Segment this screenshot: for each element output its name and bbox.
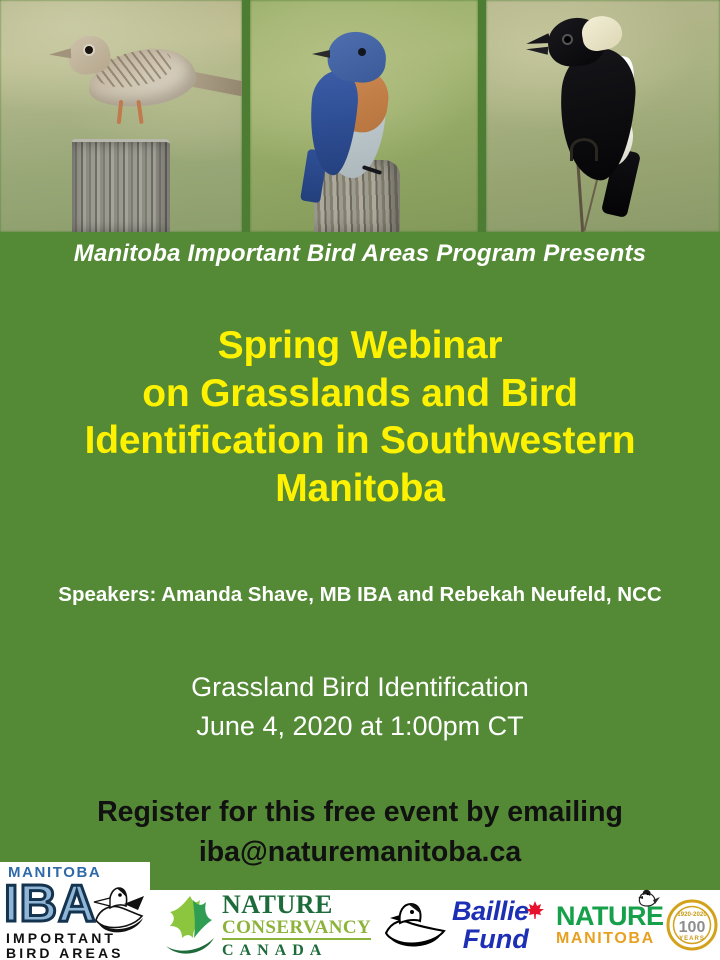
baillie-line-1: Baillie xyxy=(452,896,529,926)
iba-acronym: IBA xyxy=(4,878,97,930)
seal-label: YEARS xyxy=(679,936,705,942)
session-title: Grassland Bird Identification xyxy=(0,668,720,707)
logo-baillie-fund[interactable]: Baillie Fund xyxy=(378,890,556,960)
bobolink-foot xyxy=(570,138,598,161)
session-details: Grassland Bird Identification June 4, 20… xyxy=(0,668,720,746)
nature-manitoba-line-2: MANITOBA xyxy=(556,931,664,947)
program-presents-line: Manitoba Important Bird Areas Program Pr… xyxy=(0,240,720,268)
logo-nature-conservancy-canada[interactable]: NATURE CONSERVANCY CANADA xyxy=(150,890,378,960)
page-title: Spring Webinar on Grasslands and Bird Id… xyxy=(30,322,690,512)
ncc-wordmark: NATURE CONSERVANCY CANADA xyxy=(222,892,371,959)
chickadee-icon xyxy=(634,887,660,909)
headline-line-4: Manitoba xyxy=(30,465,690,513)
iba-sub-line-2: BIRD AREAS xyxy=(6,945,124,960)
headline-line-1: Spring Webinar xyxy=(30,322,690,370)
registration-callout: Register for this free event by emailing… xyxy=(0,793,720,873)
iba-sub-line-1: IMPORTANT xyxy=(6,930,116,946)
seal-number: 100 xyxy=(678,919,705,936)
photo-band xyxy=(0,0,720,232)
headline-line-2: on Grasslands and Bird xyxy=(30,370,690,418)
pipit-beak xyxy=(49,48,71,59)
nature-manitoba-wordmark: NATURE MANITOBA xyxy=(556,903,664,947)
register-instruction: Register for this free event by emailing xyxy=(0,793,720,833)
photo-eastern-bluebird xyxy=(250,0,478,232)
logo-nature-manitoba[interactable]: NATURE MANITOBA 1920-2020 100 YEARS xyxy=(556,890,720,960)
fence-post xyxy=(72,139,170,232)
ncc-line-3: CANADA xyxy=(222,943,371,959)
logo-manitoba-iba[interactable]: MANITOBA IBA IMPORTANT BIRD AREAS xyxy=(0,862,150,960)
100-years-anniversary-seal: 1920-2020 100 YEARS xyxy=(666,899,718,951)
ncc-line-2: CONSERVANCY xyxy=(222,918,371,940)
duck-icon xyxy=(378,899,448,951)
bobolink-lower-beak xyxy=(526,45,549,55)
baillie-line-2: Fund xyxy=(452,926,529,953)
session-datetime: June 4, 2020 at 1:00pm CT xyxy=(0,707,720,746)
seal-years-range: 1920-2020 xyxy=(677,911,707,918)
bluebird-eye xyxy=(358,48,366,56)
bobolink-eye xyxy=(564,36,571,43)
maple-leaf-icon xyxy=(160,894,218,956)
baillie-wordmark: Baillie Fund xyxy=(452,898,529,953)
poster: Manitoba Important Bird Areas Program Pr… xyxy=(0,0,720,960)
pipit-eye xyxy=(85,46,93,54)
canadian-maple-leaf-icon xyxy=(525,900,545,920)
photo-bobolink xyxy=(486,0,720,232)
sponsor-logo-bar: NATURE CONSERVANCY CANADA Baillie Fund xyxy=(150,890,720,960)
headline-line-3: Identification in Southwestern xyxy=(30,417,690,465)
ncc-line-1: NATURE xyxy=(222,892,371,918)
speakers-line: Speakers: Amanda Shave, MB IBA and Rebek… xyxy=(0,583,720,607)
bluebird-beak xyxy=(312,50,330,58)
photo-spragues-pipit xyxy=(0,0,242,232)
